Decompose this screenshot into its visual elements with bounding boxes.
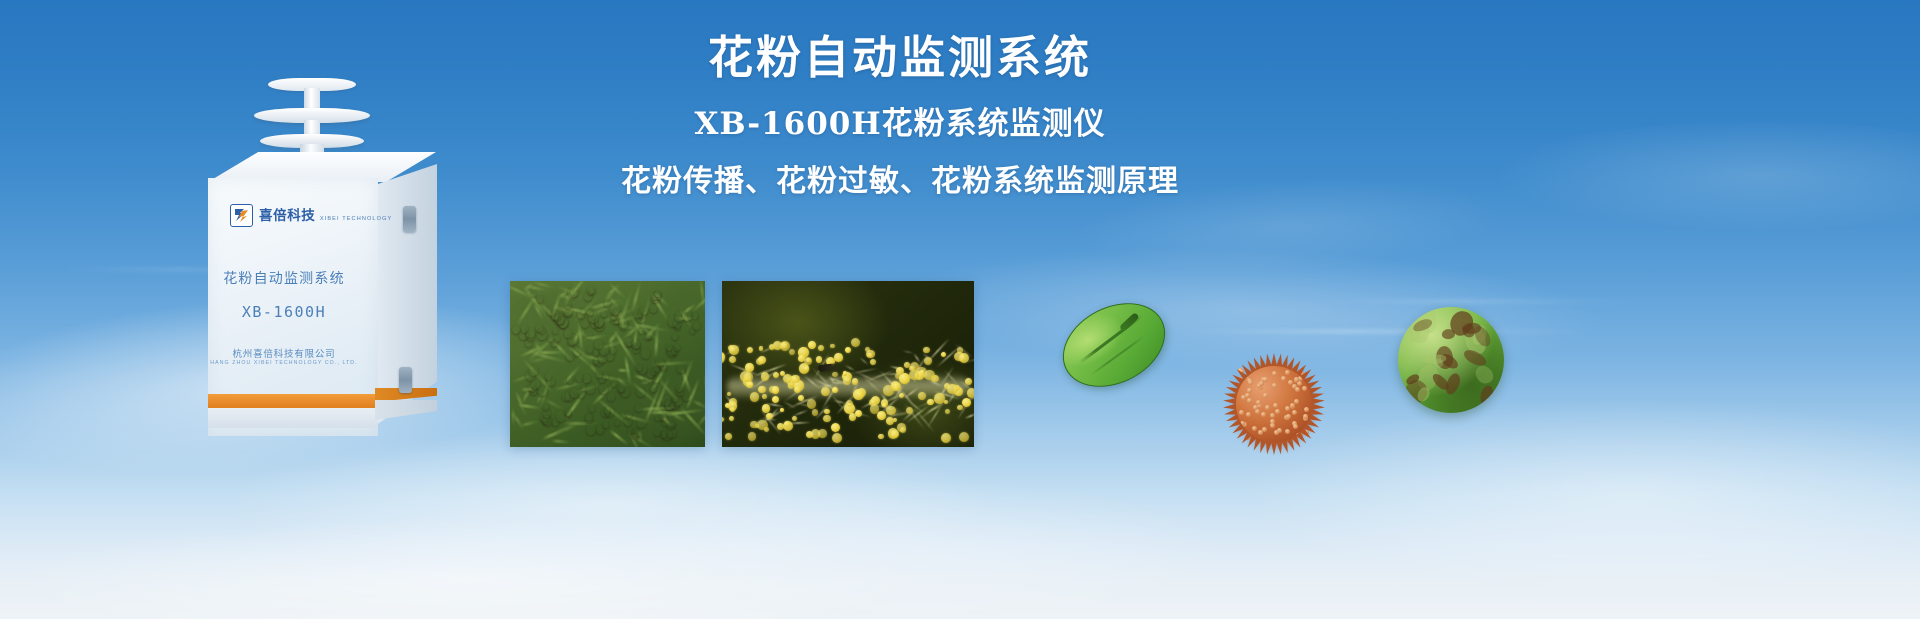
grain-spike [1223, 404, 1236, 411]
brand-name-cn: 喜倍科技 [259, 208, 315, 224]
anther [927, 399, 933, 405]
cloud-wisp [1250, 400, 1920, 590]
pollen-cone [655, 412, 662, 421]
anther [947, 384, 957, 394]
grain-surface-dot [1239, 410, 1244, 415]
device-company-cn: 杭州喜倍科技有限公司 [190, 346, 378, 360]
pollen-cone [563, 305, 572, 316]
pollen-cone [624, 417, 632, 426]
pollen-cone [644, 332, 651, 340]
anther [883, 385, 894, 396]
anther [959, 432, 969, 442]
pollen-cone [601, 311, 606, 317]
pollen-cone [586, 383, 596, 394]
pollen-cone [607, 392, 615, 401]
anther [899, 393, 904, 398]
anther [832, 372, 838, 378]
anther [791, 375, 799, 383]
mosaic-green-grain [1398, 307, 1504, 413]
anther [745, 363, 754, 372]
cloud-wisp [230, 430, 990, 580]
pollen-cone [567, 376, 573, 383]
device-model: XB-1600H [190, 303, 378, 321]
anther [824, 409, 829, 414]
anther [934, 393, 944, 403]
grain-surface-patch [1401, 310, 1410, 318]
pollen-cone [594, 356, 603, 366]
anther [807, 399, 816, 408]
pollen-cone [543, 403, 549, 410]
pollen-cone [599, 383, 608, 393]
anther [924, 370, 934, 380]
anther [750, 392, 759, 401]
grain-surface-dot [1293, 424, 1298, 429]
grain-body [1398, 307, 1504, 413]
cabinet-base [208, 408, 378, 428]
pollen-cone [692, 312, 698, 319]
anther [891, 430, 899, 438]
grain-surface-dot [1270, 413, 1275, 418]
anther [882, 403, 886, 407]
catkin-anthers-photo [722, 281, 974, 447]
pollen-cone [537, 329, 547, 340]
grain-surface-dot [1286, 414, 1291, 419]
pollen-monitoring-banner: 花粉自动监测系统 XB-1600H花粉系统监测仪 花粉传播、花粉过敏、花粉系统监… [0, 0, 1920, 619]
grain-surface-dot [1275, 409, 1280, 414]
grain-surface-dot [1245, 393, 1250, 398]
brand-name-en: XIBEI TECHNOLOGY [320, 216, 393, 222]
anther [849, 413, 856, 420]
cloud-wisp [20, 520, 920, 619]
anther [761, 372, 770, 381]
anther [757, 420, 767, 430]
pollen-cone [587, 346, 593, 353]
anther [870, 404, 880, 414]
anther [834, 353, 843, 362]
grain-surface-dot [1261, 412, 1266, 417]
anther [877, 411, 886, 420]
anther [843, 371, 847, 375]
grain-surface-dot [1281, 376, 1286, 381]
anther [772, 396, 779, 403]
pollen-cone [667, 347, 675, 356]
anther [773, 372, 779, 378]
anther [866, 350, 874, 358]
grain-surface-dot [1263, 393, 1268, 398]
cabinet-base-side [375, 400, 437, 420]
cypress-cones-photo [510, 281, 705, 447]
pollen-cone [693, 322, 700, 329]
pollen-cone [677, 365, 684, 374]
grain-surface-dot [1272, 383, 1277, 388]
grain-body [1049, 287, 1180, 404]
grain-surface-dot [1285, 429, 1290, 434]
cloud-wisp [620, 480, 1220, 619]
page-title: 花粉自动监测系统 [560, 34, 1240, 81]
anther [772, 386, 779, 393]
anther [762, 394, 767, 399]
grain-surface-dot [1294, 377, 1299, 382]
anther [965, 378, 972, 385]
cabinet-accent-stripe [208, 394, 378, 408]
anther [759, 346, 764, 351]
anther [899, 373, 910, 384]
grain-surface-dot [1304, 407, 1309, 412]
page-tagline: 花粉传播、花粉过敏、花粉系统监测原理 [560, 165, 1240, 200]
pollen-cone [577, 309, 586, 319]
pollen-cone [633, 428, 640, 437]
anther [766, 413, 772, 419]
grain-surface-dot [1273, 403, 1278, 408]
pollen-cone [554, 335, 560, 342]
anther [909, 366, 914, 371]
anther [792, 416, 797, 421]
pollen-cone [568, 334, 577, 345]
pollen-cone [662, 420, 667, 426]
pollen-cone [543, 415, 552, 426]
pollen-cone [632, 339, 641, 349]
cloud-streak [1180, 330, 1600, 333]
pollen-cone [537, 296, 543, 303]
pollen-cone [677, 388, 684, 396]
anther [821, 387, 830, 396]
anther [852, 378, 858, 384]
grain-surface-dot [1290, 403, 1295, 408]
device-company-en: HANG ZHOU XIBEI TECHNOLOGY CO., LTD. [190, 360, 378, 366]
grain-surface-dot [1256, 400, 1261, 405]
anther [748, 432, 756, 440]
grain-surface-dot [1285, 370, 1290, 375]
anther [729, 345, 739, 355]
grain-surface-dot [1246, 412, 1251, 417]
green-elongated-grain [1049, 287, 1180, 404]
anther [906, 407, 913, 414]
pollen-cone [556, 410, 566, 421]
pollen-cone [566, 411, 571, 417]
grain-surface-dot [1285, 406, 1290, 411]
grain-surface-dot [1247, 388, 1252, 393]
pollen-monitor-device: 喜倍科技 XIBEI TECHNOLOGY 花粉自动监测系统 XB-1600H … [190, 78, 460, 428]
anther [941, 433, 951, 443]
grain-surface-dot [1263, 377, 1268, 382]
pollen-cone [655, 291, 660, 297]
grain-surface-dot [1302, 386, 1307, 391]
pollen-cone [662, 429, 672, 440]
anther [923, 347, 930, 354]
pollen-cone [570, 286, 579, 296]
grain-surface-patch [1472, 362, 1497, 387]
grain-surface-dot [1270, 423, 1275, 428]
grain-surface-dot [1252, 426, 1257, 431]
pollen-cone [576, 374, 582, 381]
anther [744, 372, 753, 381]
pollen-cone [650, 304, 657, 313]
grain-surface-dot [1272, 371, 1277, 376]
pollen-cone [547, 306, 555, 315]
pollen-cone [650, 385, 656, 392]
pollen-cone [555, 314, 564, 325]
grain-surface-dot [1265, 405, 1270, 410]
anther [967, 388, 974, 397]
cabinet-latch-icon[interactable] [399, 367, 412, 393]
anther [750, 421, 757, 428]
headings-block: 花粉自动监测系统 XB-1600H花粉系统监测仪 花粉传播、花粉过敏、花粉系统监… [560, 34, 1240, 200]
pollen-cone [591, 320, 598, 328]
pollen-cone [586, 424, 596, 435]
pollen-cone [667, 420, 675, 429]
pollen-cone [637, 417, 646, 427]
pollen-cone [594, 339, 603, 349]
device-product-name: 花粉自动监测系统 [190, 268, 378, 288]
pollen-cone [636, 364, 642, 370]
anther [878, 434, 883, 439]
grain-surface-dot [1295, 387, 1300, 392]
anther [784, 421, 790, 427]
pollen-cone [615, 420, 620, 426]
anther [957, 405, 962, 410]
grain-surface-dot [1248, 380, 1253, 385]
cloud-wisp [1500, 120, 1920, 230]
pollen-cone [585, 414, 593, 423]
anther [909, 370, 919, 380]
anther [886, 417, 894, 425]
pollen-cone [611, 380, 617, 387]
anther [918, 392, 926, 400]
grain-surface-dot [1255, 409, 1260, 414]
brand-logo: 喜倍科技 XIBEI TECHNOLOGY [230, 204, 392, 227]
cloud-streak [1320, 300, 1650, 303]
cabinet-latch-icon[interactable] [403, 206, 416, 232]
grain-surface-dot [1292, 410, 1297, 415]
spiky-orange-grain [1222, 352, 1326, 456]
pollen-cone [596, 371, 602, 378]
page-subtitle: XB-1600H花粉系统监测仪 [560, 107, 1240, 141]
pollen-cone [638, 308, 646, 318]
grain-spike [1271, 442, 1277, 455]
grain-surface-dot [1259, 381, 1264, 386]
foliage-strand [511, 409, 514, 427]
pollen-cone [525, 340, 531, 347]
xibei-logo-icon [230, 204, 253, 227]
pollen-cone [548, 335, 554, 342]
pollen-cone [626, 338, 632, 345]
grain-surface-dot [1274, 430, 1279, 435]
grain-surface-dot [1303, 414, 1308, 419]
anther [886, 406, 896, 416]
pollen-cone [654, 430, 660, 436]
pollen-cone [653, 376, 659, 382]
grain-surface-patch [1479, 384, 1496, 407]
pollen-cone [583, 374, 590, 383]
anther [727, 392, 731, 396]
anther [758, 386, 765, 393]
anther [725, 433, 732, 440]
grain-surface-dot [1247, 398, 1252, 403]
anther [832, 433, 842, 443]
grain-surface-dot [1262, 427, 1267, 432]
